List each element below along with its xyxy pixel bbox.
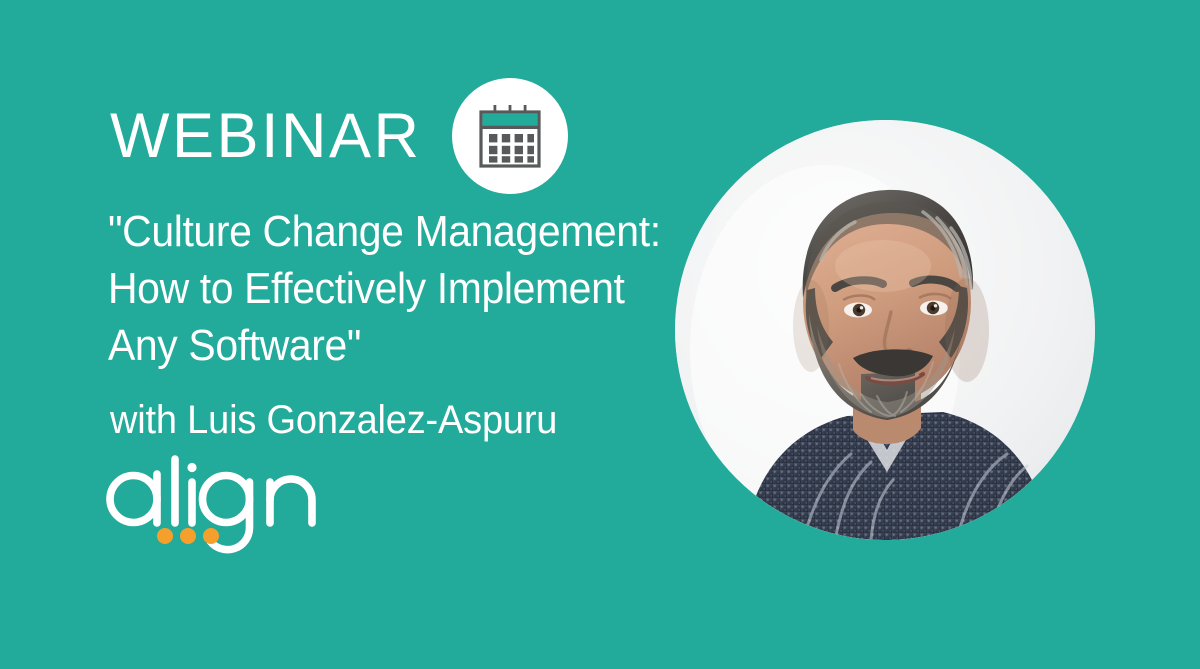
presenter-portrait bbox=[675, 120, 1095, 540]
calendar-icon-badge bbox=[452, 78, 568, 194]
align-logo-i-dot bbox=[187, 463, 196, 472]
presenter-name-label: with Luis Gonzalez-Aspuru bbox=[110, 396, 557, 444]
webinar-title: "Culture Change Management: How to Effec… bbox=[108, 203, 708, 374]
webinar-promo-banner: WEBINAR bbox=[0, 0, 1200, 669]
presenter-photo bbox=[675, 120, 1095, 540]
webinar-eyebrow-label: WEBINAR bbox=[110, 105, 422, 168]
title-line-3: Any Software" bbox=[108, 317, 666, 374]
align-logo-dots bbox=[157, 528, 219, 544]
webinar-header-row: WEBINAR bbox=[110, 96, 568, 176]
calendar-icon bbox=[473, 99, 547, 173]
title-line-2: How to Effectively Implement bbox=[108, 260, 666, 317]
align-logo bbox=[104, 452, 334, 556]
title-line-1: "Culture Change Management: bbox=[108, 203, 666, 260]
